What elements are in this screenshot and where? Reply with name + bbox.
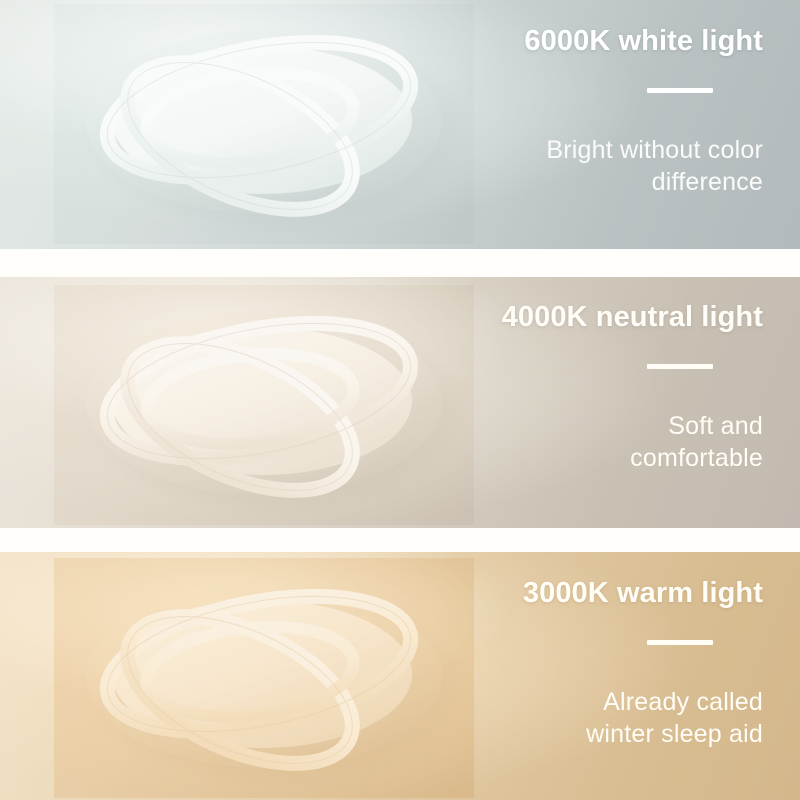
ceiling-lamp-image-cool [54, 4, 474, 244]
product-color-temperature-banner: 6000K white light Bright without color d… [0, 0, 800, 800]
panel-separator-2 [0, 528, 800, 552]
ceiling-lamp-image-warm [54, 558, 474, 798]
lamp-illustration [54, 4, 474, 244]
panel-separator-1 [0, 249, 800, 277]
lamp-illustration [54, 285, 474, 525]
lamp-illustration [54, 558, 474, 798]
panel-6000k: 6000K white light Bright without color d… [0, 0, 800, 249]
ceiling-lamp-image-neutral [54, 285, 474, 525]
panel-4000k: 4000K neutral light Soft and comfortable [0, 277, 800, 528]
panel-3000k: 3000K warm light Already called winter s… [0, 552, 800, 800]
